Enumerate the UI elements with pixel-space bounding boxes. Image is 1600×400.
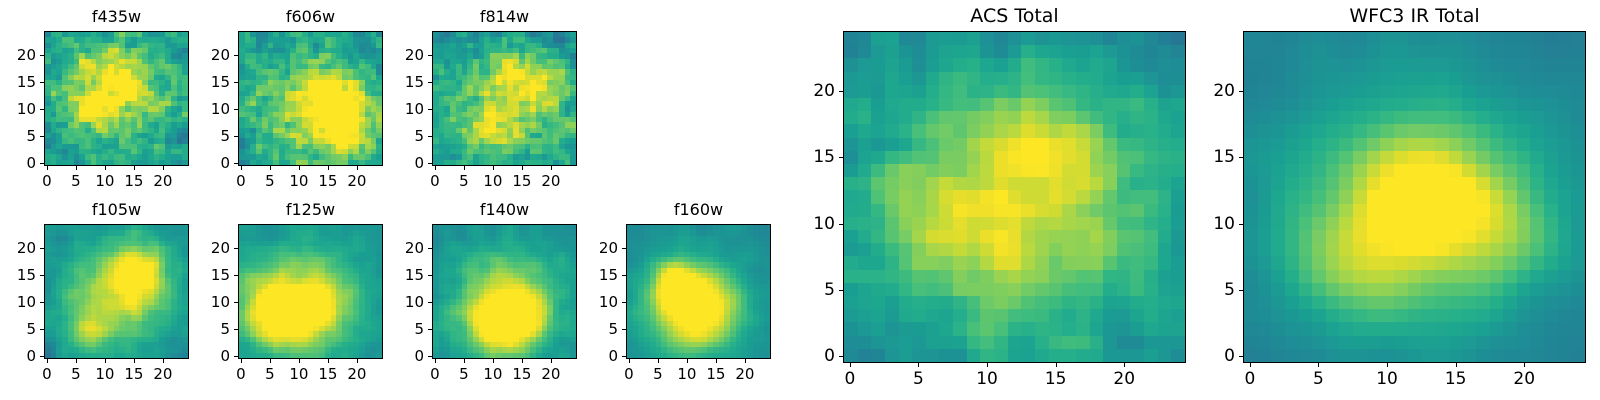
panel-wfc3-ir-total: WFC3 IR Total0055101015152020 [1183,5,1600,393]
x-tick [134,166,135,170]
y-tick-label: 20 [372,239,424,257]
y-tick [428,136,432,137]
y-tick [40,136,44,137]
y-tick [234,248,238,249]
pixel-grid [239,225,382,358]
heatmap-wfc3-ir-total [1243,31,1586,363]
x-tick-label: 20 [541,365,560,383]
y-tick-label: 20 [783,81,835,101]
y-tick [40,275,44,276]
y-tick-label: 20 [0,46,36,64]
y-tick-label: 20 [372,46,424,64]
y-tick-label: 0 [178,347,230,365]
panel-title-f435w: f435w [44,7,189,26]
y-tick [839,356,843,357]
x-tick [76,166,77,170]
y-tick [839,157,843,158]
y-tick-label: 10 [0,293,36,311]
x-tick-label: 5 [1313,369,1324,389]
pixel-grid [1244,32,1585,362]
x-tick [493,166,494,170]
y-tick-label: 0 [372,347,424,365]
y-tick [428,302,432,303]
pixel-grid [433,32,576,165]
x-tick-label: 10 [95,172,114,190]
heatmap-f140w [432,224,577,359]
y-tick-label: 15 [566,266,618,284]
y-tick-label: 15 [0,73,36,91]
panel-title-f105w: f105w [44,200,189,219]
x-tick [299,166,300,170]
y-tick-label: 15 [1183,147,1235,167]
x-tick [1124,363,1125,367]
y-tick [428,82,432,83]
panel-f814w: f814w0055101015152020 [372,5,597,196]
x-tick [987,363,988,367]
x-tick-label: 10 [289,365,308,383]
y-tick [839,224,843,225]
panel-title-f606w: f606w [238,7,383,26]
x-tick [551,166,552,170]
x-tick [1056,363,1057,367]
heatmap-f125w [238,224,383,359]
x-tick-label: 20 [153,365,172,383]
x-tick-label: 20 [1113,369,1135,389]
y-tick-label: 10 [566,293,618,311]
x-tick [551,359,552,363]
y-tick [428,163,432,164]
y-tick-label: 10 [372,100,424,118]
y-tick [234,163,238,164]
y-tick [40,329,44,330]
x-tick [47,166,48,170]
x-tick [716,359,717,363]
pixel-grid [433,225,576,358]
x-tick-label: 10 [483,365,502,383]
x-tick [299,359,300,363]
x-tick [241,359,242,363]
heatmap-f606w [238,31,383,166]
x-tick-label: 10 [483,172,502,190]
panel-title-f125w: f125w [238,200,383,219]
x-tick [134,359,135,363]
pixel-grid [627,225,770,358]
y-tick [40,163,44,164]
y-tick [234,275,238,276]
y-tick [622,248,626,249]
y-tick [1239,157,1243,158]
y-tick-label: 15 [178,73,230,91]
y-tick [40,248,44,249]
y-tick-label: 5 [178,127,230,145]
x-tick-label: 0 [844,369,855,389]
y-tick [622,275,626,276]
y-tick-label: 15 [783,147,835,167]
x-tick-label: 5 [653,365,663,383]
x-tick [1387,363,1388,367]
x-tick [464,359,465,363]
y-tick-label: 5 [0,320,36,338]
panel-f160w: f160w0055101015152020 [566,198,791,389]
x-tick-label: 15 [706,365,725,383]
x-tick [76,359,77,363]
x-tick [47,359,48,363]
x-tick [687,359,688,363]
x-tick-label: 15 [318,172,337,190]
x-tick-label: 10 [976,369,998,389]
y-tick [622,356,626,357]
x-tick-label: 15 [1445,369,1467,389]
y-tick [40,55,44,56]
x-tick-label: 20 [347,365,366,383]
panel-acs-total: ACS Total0055101015152020 [783,5,1206,393]
x-tick-label: 0 [624,365,634,383]
y-tick-label: 5 [372,320,424,338]
y-tick-label: 15 [178,266,230,284]
y-tick [428,329,432,330]
x-tick-label: 20 [153,172,172,190]
x-tick-label: 15 [1045,369,1067,389]
heatmap-f435w [44,31,189,166]
x-tick [163,359,164,363]
x-tick-label: 10 [677,365,696,383]
y-tick-label: 10 [1183,214,1235,234]
heatmap-f105w [44,224,189,359]
y-tick [428,248,432,249]
y-tick-label: 0 [1183,346,1235,366]
panel-title-f814w: f814w [432,7,577,26]
y-tick-label: 20 [566,239,618,257]
x-tick-label: 15 [512,172,531,190]
y-tick-label: 20 [178,46,230,64]
y-tick-label: 5 [566,320,618,338]
x-tick-label: 15 [124,172,143,190]
y-tick-label: 0 [0,154,36,172]
x-tick [1318,363,1319,367]
x-tick [1250,363,1251,367]
y-tick [234,136,238,137]
x-tick-label: 5 [459,365,469,383]
x-tick-label: 5 [913,369,924,389]
y-tick-label: 0 [566,347,618,365]
x-tick-label: 5 [265,365,275,383]
x-tick-label: 15 [512,365,531,383]
y-tick [839,290,843,291]
y-tick-label: 5 [0,127,36,145]
y-tick [234,356,238,357]
y-tick [1239,356,1243,357]
panel-title-acs-total: ACS Total [843,5,1186,27]
x-tick [105,359,106,363]
x-tick [270,359,271,363]
x-tick [629,359,630,363]
y-tick [234,302,238,303]
x-tick-label: 5 [459,172,469,190]
x-tick [270,166,271,170]
y-tick-label: 0 [0,347,36,365]
y-tick-label: 15 [0,266,36,284]
y-tick [428,356,432,357]
y-tick [40,356,44,357]
y-tick-label: 15 [372,73,424,91]
pixel-grid [844,32,1185,362]
x-tick-label: 5 [71,365,81,383]
heatmap-f160w [626,224,771,359]
x-tick-label: 0 [236,365,246,383]
x-tick-label: 5 [71,172,81,190]
y-tick [428,275,432,276]
pixel-grid [45,32,188,165]
x-tick-label: 0 [42,365,52,383]
x-tick [241,166,242,170]
x-tick [105,166,106,170]
x-tick [1524,363,1525,367]
y-tick-label: 0 [178,154,230,172]
y-tick [40,302,44,303]
x-tick-label: 0 [430,172,440,190]
y-tick-label: 10 [178,293,230,311]
x-tick-label: 10 [1376,369,1398,389]
y-tick [1239,91,1243,92]
y-tick-label: 0 [372,154,424,172]
y-tick [622,302,626,303]
x-tick-label: 0 [42,172,52,190]
y-tick-label: 5 [783,280,835,300]
y-tick-label: 10 [178,100,230,118]
x-tick-label: 0 [236,172,246,190]
x-tick [850,363,851,367]
x-tick-label: 0 [430,365,440,383]
y-tick [40,82,44,83]
y-tick-label: 10 [0,100,36,118]
y-tick [234,329,238,330]
x-tick [435,359,436,363]
x-tick [658,359,659,363]
y-tick-label: 5 [1183,280,1235,300]
panel-f140w: f140w0055101015152020 [372,198,597,389]
x-tick [1456,363,1457,367]
panel-f125w: f125w0055101015152020 [178,198,403,389]
panel-title-f140w: f140w [432,200,577,219]
pixel-grid [45,225,188,358]
y-tick-label: 20 [1183,81,1235,101]
x-tick [493,359,494,363]
panel-title-f160w: f160w [626,200,771,219]
x-tick-label: 0 [1244,369,1255,389]
y-tick [1239,224,1243,225]
y-tick-label: 20 [0,239,36,257]
heatmap-f814w [432,31,577,166]
pixel-grid [239,32,382,165]
y-tick-label: 5 [178,320,230,338]
x-tick [745,359,746,363]
y-tick [234,82,238,83]
y-tick [839,91,843,92]
x-tick-label: 20 [735,365,754,383]
x-tick-label: 20 [541,172,560,190]
y-tick-label: 0 [783,346,835,366]
x-tick-label: 10 [289,172,308,190]
x-tick [918,363,919,367]
x-tick-label: 15 [124,365,143,383]
panel-f606w: f606w0055101015152020 [178,5,403,196]
x-tick [464,166,465,170]
x-tick [522,166,523,170]
y-tick [428,55,432,56]
x-tick [328,359,329,363]
x-tick-label: 15 [318,365,337,383]
x-tick [435,166,436,170]
x-tick-label: 10 [95,365,114,383]
x-tick [163,166,164,170]
y-tick-label: 20 [178,239,230,257]
x-tick [522,359,523,363]
y-tick-label: 10 [783,214,835,234]
y-tick-label: 10 [372,293,424,311]
y-tick-label: 5 [372,127,424,145]
panel-title-wfc3-ir-total: WFC3 IR Total [1243,5,1586,27]
x-tick-label: 20 [1513,369,1535,389]
y-tick [234,55,238,56]
heatmap-acs-total [843,31,1186,363]
x-tick-label: 20 [347,172,366,190]
y-tick [622,329,626,330]
y-tick-label: 15 [372,266,424,284]
x-tick [328,166,329,170]
y-tick [1239,290,1243,291]
y-tick [428,109,432,110]
y-tick [40,109,44,110]
x-tick [357,359,358,363]
x-tick [357,166,358,170]
y-tick [234,109,238,110]
x-tick-label: 5 [265,172,275,190]
